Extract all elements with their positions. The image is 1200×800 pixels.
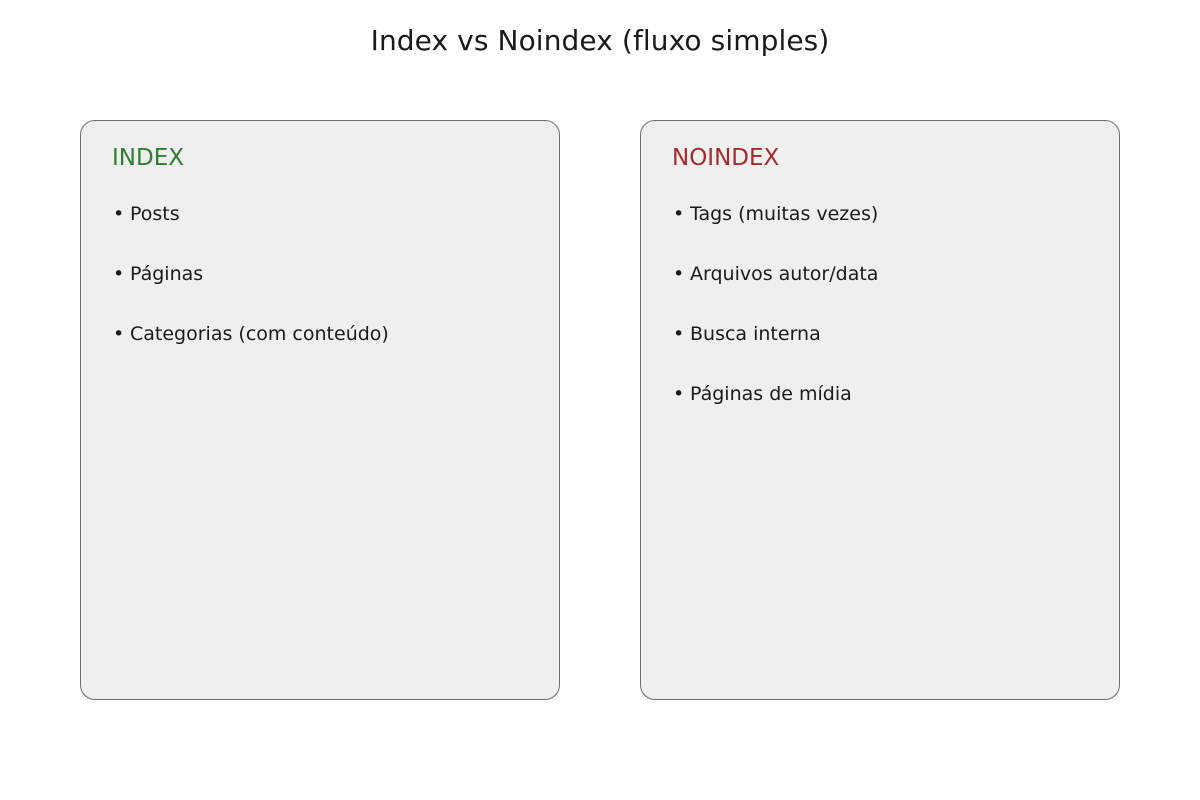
list-item-label: Tags (muitas vezes): [690, 203, 878, 225]
bullet-icon: •: [673, 383, 684, 405]
bullet-icon: •: [673, 263, 684, 285]
list-item: • Tags (muitas vezes): [672, 203, 1103, 263]
bullet-icon: •: [113, 263, 124, 285]
card-index-list: • Posts • Páginas • Categorias (com cont…: [112, 203, 543, 383]
bullet-icon: •: [673, 203, 684, 225]
list-item-label: Categorias (com conteúdo): [130, 323, 389, 345]
list-item-label: Páginas: [130, 263, 203, 285]
card-noindex: NOINDEX • Tags (muitas vezes) • Arquivos…: [640, 120, 1120, 700]
list-item-label: Posts: [130, 203, 180, 225]
list-item-label: Busca interna: [690, 323, 821, 345]
list-item-label: Páginas de mídia: [690, 383, 852, 405]
list-item: • Páginas de mídia: [672, 383, 1103, 443]
slide-canvas: Index vs Noindex (fluxo simples) INDEX •…: [0, 0, 1200, 800]
card-noindex-list: • Tags (muitas vezes) • Arquivos autor/d…: [672, 203, 1103, 443]
bullet-icon: •: [113, 203, 124, 225]
list-item: • Busca interna: [672, 323, 1103, 383]
list-item: • Posts: [112, 203, 543, 263]
list-item: • Páginas: [112, 263, 543, 323]
card-index-heading: INDEX: [112, 144, 184, 172]
bullet-icon: •: [673, 323, 684, 345]
list-item: • Arquivos autor/data: [672, 263, 1103, 323]
card-index: INDEX • Posts • Páginas • Categorias (co…: [80, 120, 560, 700]
card-noindex-heading: NOINDEX: [672, 144, 779, 172]
page-title: Index vs Noindex (fluxo simples): [0, 24, 1200, 58]
bullet-icon: •: [113, 323, 124, 345]
list-item-label: Arquivos autor/data: [690, 263, 878, 285]
list-item: • Categorias (com conteúdo): [112, 323, 543, 383]
